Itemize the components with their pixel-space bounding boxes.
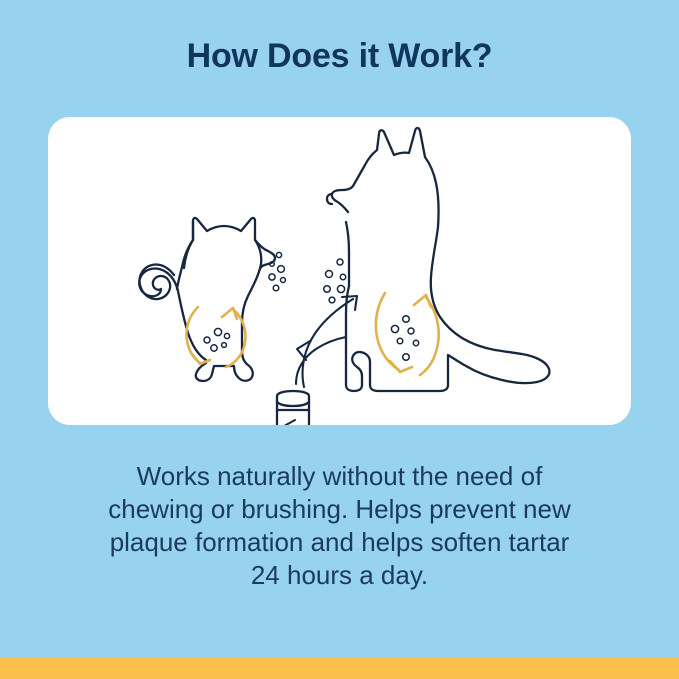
- description-line: 24 hours a day.: [60, 559, 619, 592]
- cat-outline: [139, 218, 275, 381]
- how-it-works-diagram: [48, 117, 631, 425]
- cat-particles: [204, 328, 230, 351]
- scoop: [254, 420, 295, 425]
- bottom-accent-bar: [0, 658, 679, 679]
- supplement-jar: [277, 391, 309, 425]
- dog-outline: [327, 128, 549, 391]
- dog-circulation-arrows: [376, 293, 439, 375]
- page-title: How Does it Work?: [0, 36, 679, 76]
- dog-particles: [391, 316, 418, 361]
- cat-mouth-particles: [269, 252, 286, 290]
- infographic-panel: How Does it Work?: [0, 0, 679, 679]
- description-text: Works naturally without the need of chew…: [60, 460, 619, 592]
- illustration-card: [48, 117, 631, 425]
- description-line: chewing or brushing. Helps prevent new: [60, 493, 619, 526]
- cat-circulation-arrows: [186, 307, 245, 367]
- description-line: plaque formation and helps soften tartar: [60, 526, 619, 559]
- description-line: Works naturally without the need of: [60, 460, 619, 493]
